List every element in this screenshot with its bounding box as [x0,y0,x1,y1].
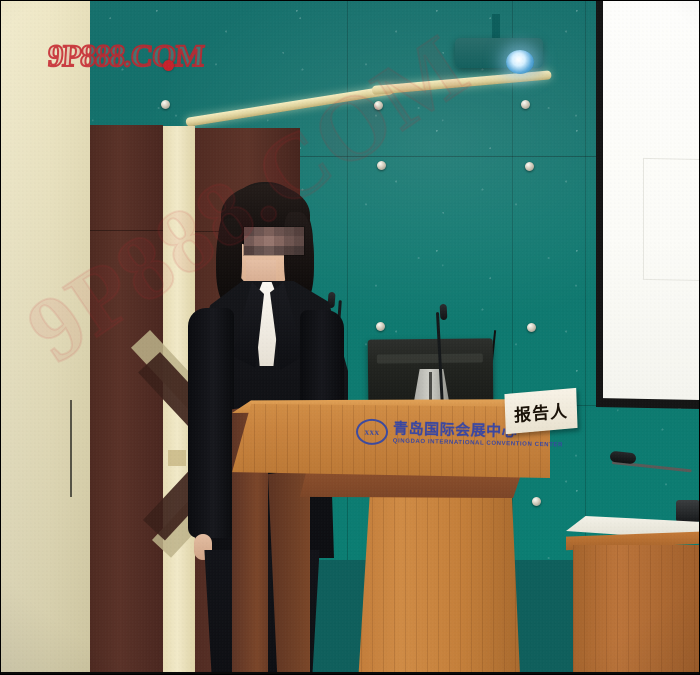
side-table-body [573,545,700,675]
speaker-name-card: 报告人 [504,388,577,434]
pixelated-censor-bar [244,227,304,255]
censor-tile [254,246,264,255]
projection-screen-surface [603,0,700,400]
table-object [676,500,700,522]
wall-stud-icon [525,162,534,171]
censor-tile [284,236,294,245]
projector-mount [492,14,500,40]
censor-tile [254,236,264,245]
cream-wall-column [0,0,90,675]
podium-wood-grain [350,484,520,675]
projection-screen [596,0,700,409]
wood-panel-seam [90,230,163,231]
censor-tile [274,227,284,236]
trouser-seam [70,400,72,497]
censor-tile [274,246,284,255]
wall-stud-icon [374,101,383,110]
wall-panel-seam-vertical [585,0,586,560]
wall-stud-icon [521,100,530,109]
name-card-text: 报告人 [514,396,569,426]
projector-lens-icon [506,50,534,74]
convention-center-logo-icon: xxx [356,418,389,445]
photo-canvas: xxx 青岛国际会展中心 QINGDAO INTERNATIONAL CONVE… [0,0,700,675]
censor-tile [274,236,284,245]
censor-tile [284,246,294,255]
censor-tile [244,246,254,255]
wall-stud-icon [532,497,541,506]
censor-tile [284,227,294,236]
censor-tile [264,236,274,245]
censor-tile [294,227,304,236]
podium-body [350,484,520,675]
censor-tile [264,246,274,255]
watermark-top-left: 9P888.COM [47,38,205,74]
table-wood-grain [573,545,700,675]
left-arm [188,308,234,538]
microphone-head-icon [440,304,448,320]
wall-stud-icon [527,323,536,332]
censor-tile [294,236,304,245]
wood-wall-panel [90,125,163,675]
censor-tile [254,227,264,236]
censor-tile [294,246,304,255]
censor-tile [244,227,254,236]
wall-stud-icon [161,100,170,109]
watermark-dot-icon [163,60,174,71]
censor-tile [264,227,274,236]
wall-stud-icon [377,161,386,170]
monitor-back-groove [377,353,483,363]
wall-stud-icon [376,322,385,331]
projection-screen-content-box [643,158,700,281]
censor-tile [244,236,254,245]
wall-fixture-icon [168,450,186,466]
